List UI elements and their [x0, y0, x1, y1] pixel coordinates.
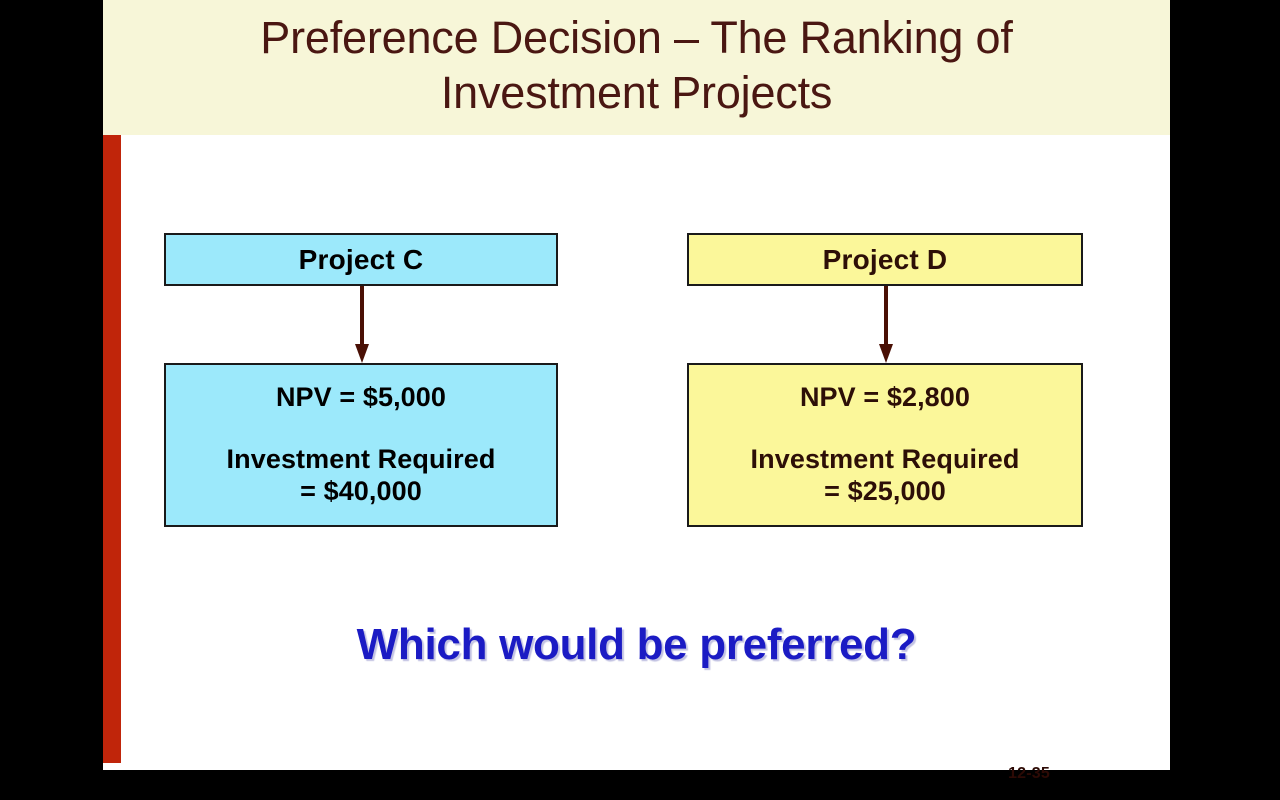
project-c-investment-value: = $40,000	[300, 476, 422, 508]
project-c-detail-box: NPV = $5,000 Investment Required = $40,0…	[164, 363, 558, 527]
page-number: 12-35	[930, 765, 1050, 783]
page-title: Preference Decision – The Ranking of Inv…	[137, 11, 1137, 125]
arrow-shaft	[360, 286, 364, 346]
project-c-down-arrow-icon	[355, 286, 369, 363]
project-c-investment-label: Investment Required	[227, 444, 496, 476]
slide-canvas: Preference Decision – The Ranking of Inv…	[103, 0, 1170, 770]
slide-root: Preference Decision – The Ranking of Inv…	[0, 0, 1280, 800]
project-c-header-label: Project C	[299, 246, 424, 274]
project-d-npv: NPV = $2,800	[800, 382, 970, 414]
arrow-shaft	[884, 286, 888, 346]
project-d-investment-label: Investment Required	[751, 444, 1020, 476]
page-title-line-2: Investment Projects	[137, 66, 1137, 121]
page-title-line-1: Preference Decision – The Ranking of	[137, 11, 1137, 66]
project-c-npv: NPV = $5,000	[276, 382, 446, 414]
project-c-header-box: Project C	[164, 233, 558, 286]
slide-title-bar: Preference Decision – The Ranking of Inv…	[103, 0, 1170, 135]
project-d-header-label: Project D	[823, 246, 948, 274]
arrow-head	[355, 344, 369, 363]
project-d-down-arrow-icon	[879, 286, 893, 363]
question-text: Which would be preferred?	[103, 620, 1170, 670]
project-d-detail-box: NPV = $2,800 Investment Required = $25,0…	[687, 363, 1083, 527]
project-d-header-box: Project D	[687, 233, 1083, 286]
project-d-investment-value: = $25,000	[824, 476, 946, 508]
arrow-head	[879, 344, 893, 363]
